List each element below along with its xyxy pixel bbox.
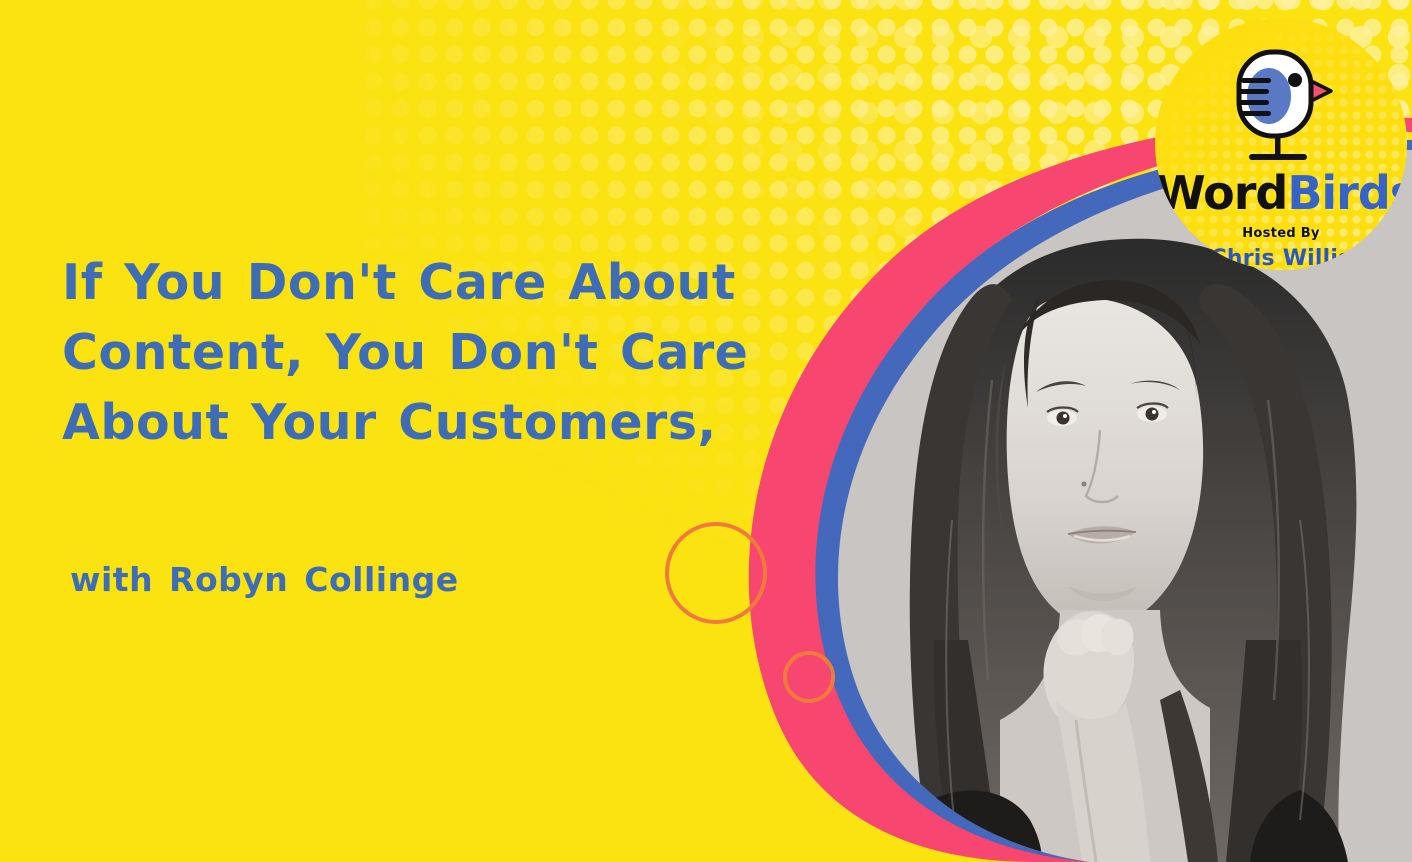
host-name: Chris Willis: [1155, 246, 1407, 270]
decorative-ring-large: [665, 522, 767, 624]
wordmark-birds: Birds: [1287, 166, 1407, 220]
hosted-by-label: Hosted By: [1155, 226, 1407, 241]
bird-microphone-icon: [1213, 44, 1345, 174]
episode-guest: with Robyn Collinge: [70, 560, 459, 599]
wordbirds-wordmark: WordBirds: [1155, 170, 1407, 216]
wordmark-word: Word: [1155, 166, 1287, 220]
wordbirds-logo-badge: WordBirds Hosted By Chris Willis: [1155, 18, 1407, 270]
podcast-episode-cover: If You Don't Care About Content, You Don…: [0, 0, 1412, 862]
decorative-ring-small: [783, 651, 835, 703]
episode-title: If You Don't Care About Content, You Don…: [62, 248, 762, 458]
